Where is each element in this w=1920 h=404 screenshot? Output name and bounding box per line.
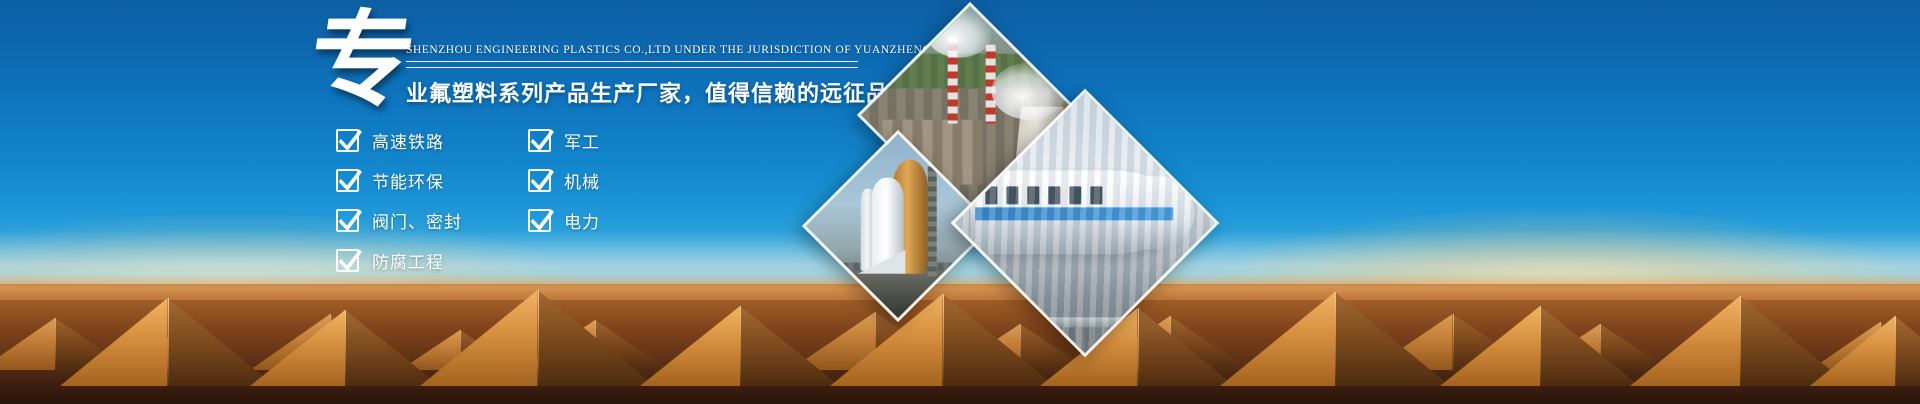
pyramid-ridge — [55, 318, 56, 370]
check-icon — [336, 169, 359, 192]
pyramid-shadow-face — [1895, 316, 1920, 386]
pyramid-lit-face — [420, 290, 538, 386]
feature-label: 阀门、密封 — [372, 208, 462, 233]
pyramid-lit-face — [1810, 316, 1895, 386]
feature-label: 高速铁路 — [372, 128, 444, 153]
pyramid-lit-face — [640, 306, 740, 386]
pyramid-shadow-face — [1335, 292, 1450, 386]
pyramid-ridge — [345, 310, 346, 386]
pyramid — [420, 290, 655, 386]
feature-label: 机械 — [564, 168, 600, 193]
feature-label: 军工 — [564, 128, 600, 153]
pyramid — [1810, 316, 1920, 386]
pyramid — [250, 310, 440, 386]
pyramid-lit-face — [1440, 306, 1540, 386]
english-tagline: SHENZHOU ENGINEERING PLASTICS CO.,LTD UN… — [406, 44, 926, 56]
feature-label: 防腐工程 — [372, 248, 444, 273]
chinese-tagline: 业氟塑料系列产品生产厂家，值得信赖的远征品牌 — [406, 76, 926, 108]
pyramid-ridge — [168, 298, 169, 386]
pyramid-lit-face — [1630, 296, 1740, 386]
feature-label: 节能环保 — [372, 168, 444, 193]
pyramid-ridge — [943, 294, 944, 386]
pyramid-lit-face — [1220, 292, 1335, 386]
shuttle-service-tower — [928, 167, 937, 278]
feature-item-5: 电力 — [528, 200, 720, 240]
pyramid — [1440, 306, 1640, 386]
pyramid-shadow-face — [1540, 306, 1640, 386]
pyramid-ridge — [1895, 316, 1896, 386]
pyramid-ridge — [538, 290, 539, 386]
pyramid-ridge — [1138, 308, 1139, 386]
feature-item-0: 高速铁路 — [336, 120, 528, 160]
headline-block: SHENZHOU ENGINEERING PLASTICS CO.,LTD UN… — [406, 44, 926, 108]
promo-banner: 专 SHENZHOU ENGINEERING PLASTICS CO.,LTD … — [0, 0, 1920, 404]
feature-item-1: 军工 — [528, 120, 720, 160]
pyramid-lit-face — [250, 310, 345, 386]
feature-label: 电力 — [564, 208, 600, 233]
pyramid-shadow-face — [538, 290, 656, 386]
feature-checklist: 高速铁路军工节能环保机械阀门、密封电力防腐工程 — [336, 120, 720, 280]
pyramid — [640, 306, 840, 386]
pyramid-shadow-face — [740, 306, 840, 386]
check-icon — [528, 209, 551, 232]
double-rule-divider — [406, 61, 858, 68]
pyramid — [60, 298, 275, 386]
feature-item-2: 节能环保 — [336, 160, 528, 200]
check-icon — [336, 129, 359, 152]
check-icon — [336, 249, 359, 272]
feature-item-6: 防腐工程 — [336, 240, 528, 280]
pyramid — [830, 294, 1055, 386]
pyramid-lit-face — [0, 318, 55, 370]
pyramid-ridge — [1740, 296, 1741, 386]
feature-item-4: 阀门、密封 — [336, 200, 528, 240]
pyramid — [1220, 292, 1450, 386]
check-icon — [336, 209, 359, 232]
pyramid-lit-face — [60, 298, 168, 386]
feature-item-3: 机械 — [528, 160, 720, 200]
check-icon — [528, 129, 551, 152]
check-icon — [528, 169, 551, 192]
pyramid-ridge — [740, 306, 741, 386]
pyramid-ridge — [1540, 306, 1541, 386]
pyramid-ridge — [1335, 292, 1336, 386]
